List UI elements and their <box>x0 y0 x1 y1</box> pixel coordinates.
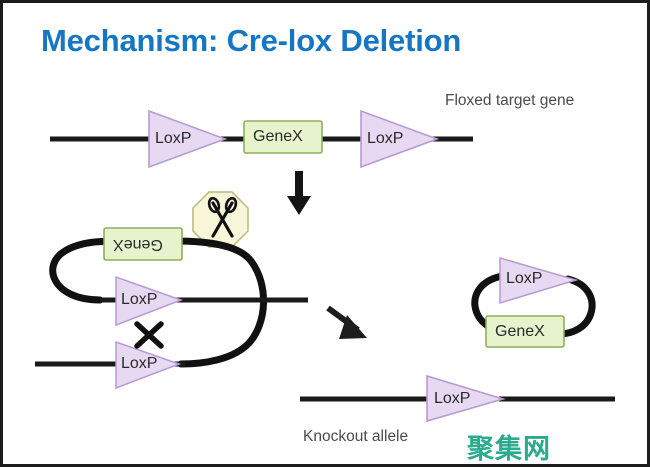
loxp-site-triangle <box>427 376 503 421</box>
x-cross-icon <box>137 324 161 346</box>
loxp-site-triangle <box>149 111 225 167</box>
gene-x-box <box>486 316 564 347</box>
diagonal-arrow-icon <box>328 308 367 339</box>
gene-x-box <box>244 121 322 153</box>
knockout-allele-strand <box>300 376 615 421</box>
excised-circular-dna <box>475 258 592 347</box>
slide-canvas: Mechanism: Cre-lox Deletion Floxed targe… <box>0 0 650 467</box>
loxp-site-triangle <box>116 342 179 388</box>
floxed-allele-strand <box>50 111 473 167</box>
synapsed-loop-strand <box>35 228 308 388</box>
loxp-site-triangle <box>500 258 576 303</box>
loxp-site-triangle <box>116 277 181 325</box>
diagram-svg <box>3 3 650 467</box>
down-arrow-icon <box>287 171 311 215</box>
loxp-site-triangle <box>361 111 437 167</box>
site-watermark: 聚集网 <box>467 427 551 466</box>
gene-x-box-flipped <box>104 228 182 260</box>
